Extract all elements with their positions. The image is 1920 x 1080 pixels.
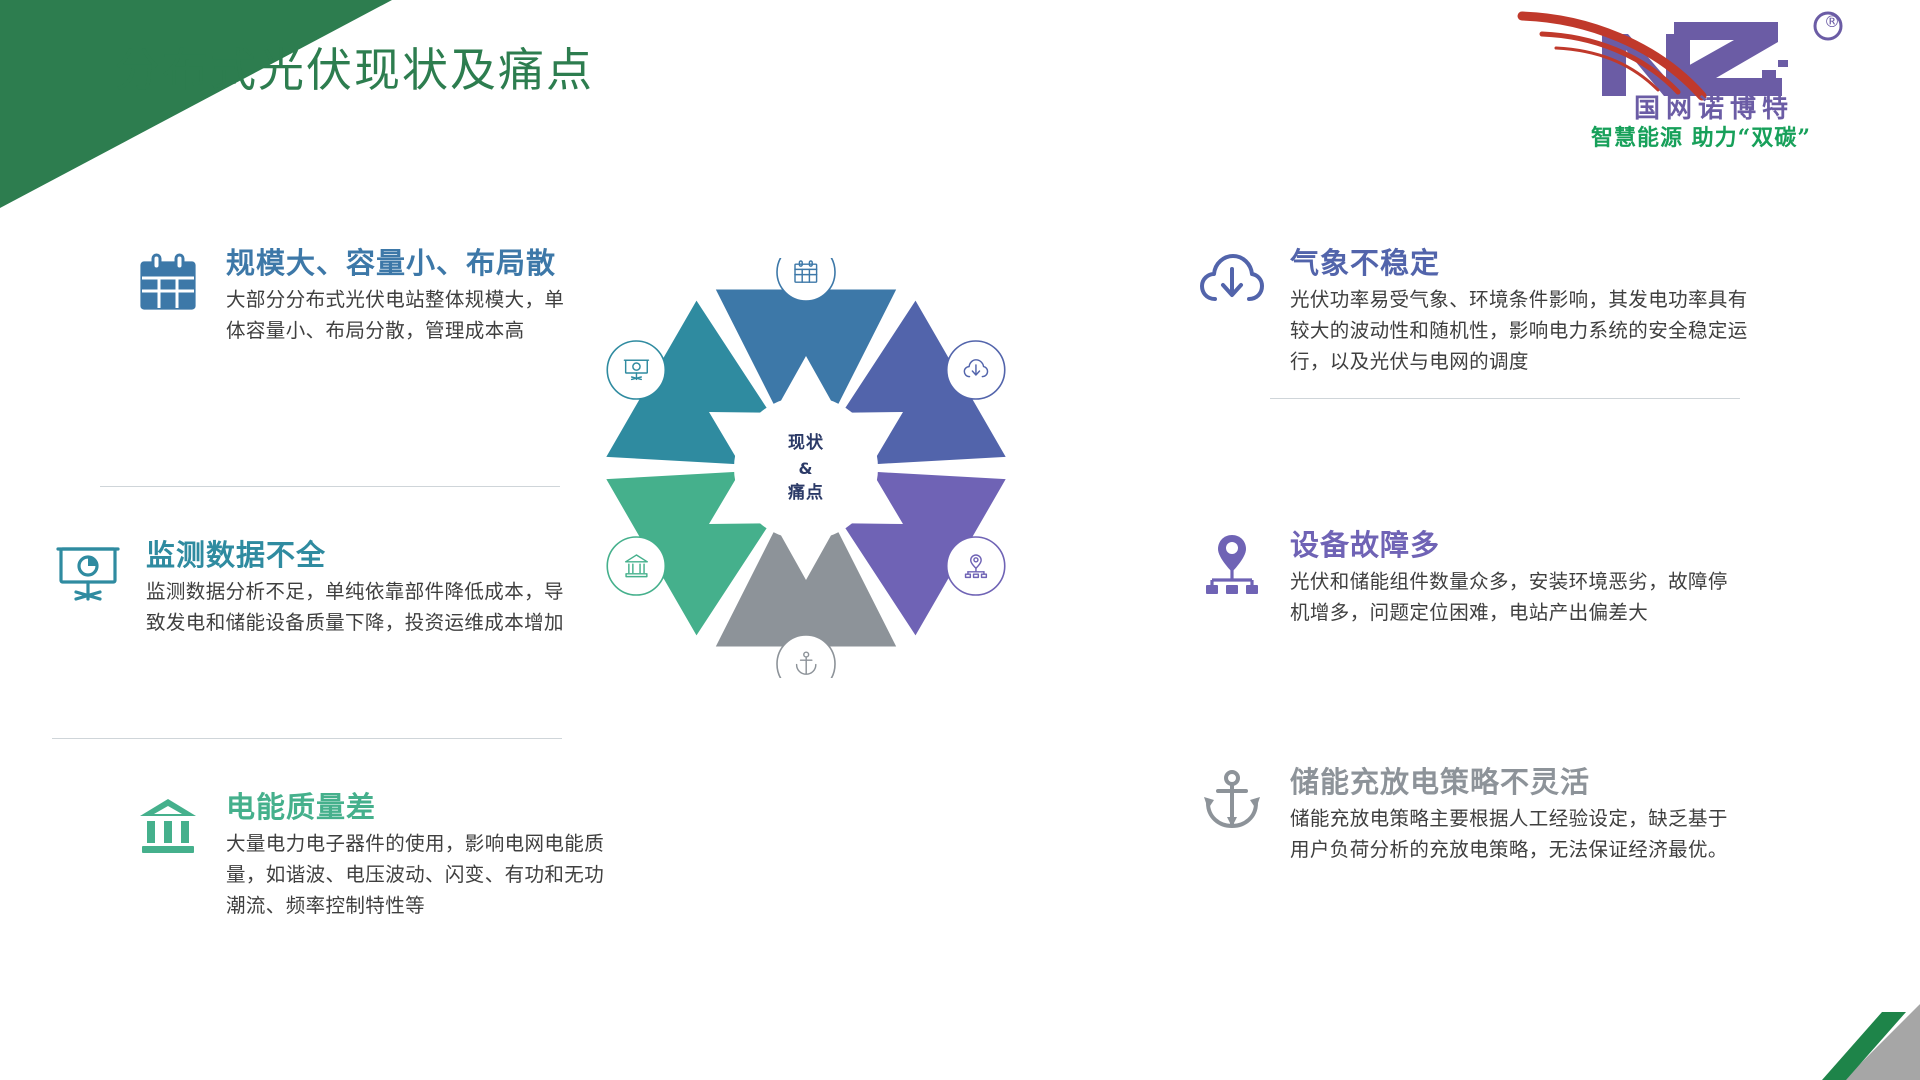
divider-left-1 xyxy=(100,486,560,487)
logo-mark: ® 国网诺博特 xyxy=(1506,4,1896,116)
info-block-equipment-faults: 设备故障多 光伏和储能组件数量众多，安装环境恶劣，故障停机增多，问题定位困难，电… xyxy=(1196,528,1736,628)
block-heading: 设备故障多 xyxy=(1290,528,1736,562)
divider-left-2 xyxy=(52,738,562,739)
block-body: 大量电力电子器件的使用，影响电网电能质量，如谐波、电压波动、闪变、有功和无功潮流… xyxy=(226,828,612,921)
network-pin-icon xyxy=(1196,528,1268,600)
block-body: 储能充放电策略主要根据人工经验设定，缺乏基于用户负荷分析的充放电策略，无法保证经… xyxy=(1290,803,1736,865)
icon-badge-bank-icon[interactable] xyxy=(607,537,665,595)
hexagon-diagram: 现状 & 痛点 xyxy=(596,258,1016,678)
block-heading: 监测数据不全 xyxy=(146,538,582,572)
logo-tagline: 智慧能源 助力“双碳” xyxy=(1506,120,1896,152)
block-body: 光伏功率易受气象、环境条件影响，其发电功率具有较大的波动性和随机性，影响电力系统… xyxy=(1290,284,1756,377)
info-block-storage-strategy: 储能充放电策略不灵活 储能充放电策略主要根据人工经验设定，缺乏基于用户负荷分析的… xyxy=(1196,765,1736,865)
info-block-weather: 气象不稳定 光伏功率易受气象、环境条件影响，其发电功率具有较大的波动性和随机性，… xyxy=(1196,246,1756,377)
hexagon-svg xyxy=(596,258,1016,678)
block-heading: 规模大、容量小、布局散 xyxy=(226,246,572,280)
cloud-download-icon xyxy=(1196,246,1268,318)
block-body: 大部分分布式光伏电站整体规模大，单体容量小、布局分散，管理成本高 xyxy=(226,284,572,346)
block-heading: 气象不稳定 xyxy=(1290,246,1756,280)
info-block-scale: 规模大、容量小、布局散 大部分分布式光伏电站整体规模大，单体容量小、布局分散，管… xyxy=(132,246,572,346)
anchor-icon xyxy=(1196,765,1268,837)
divider-right-1 xyxy=(1270,398,1740,399)
block-heading: 储能充放电策略不灵活 xyxy=(1290,765,1736,799)
block-body: 监测数据分析不足，单纯依靠部件降低成本，导致发电和储能设备质量下降，投资运维成本… xyxy=(146,576,582,638)
top-left-corner-accent xyxy=(0,0,392,208)
info-block-power-quality: 电能质量差 大量电力电子器件的使用，影响电网电能质量，如谐波、电压波动、闪变、有… xyxy=(132,790,612,921)
bank-icon xyxy=(132,790,204,862)
bottom-right-corner-accent xyxy=(1730,970,1920,1080)
icon-badge-network-pin-icon[interactable] xyxy=(947,537,1005,595)
presentation-icon xyxy=(52,538,124,610)
company-logo: ® 国网诺博特 智慧能源 助力“双碳” xyxy=(1506,4,1896,154)
slide-canvas: 分布式光伏现状及痛点 ® 国网诺博特 xyxy=(0,0,1920,1080)
calendar-icon xyxy=(132,246,204,318)
info-block-monitoring: 监测数据不全 监测数据分析不足，单纯依靠部件降低成本，导致发电和储能设备质量下降… xyxy=(52,538,582,638)
page-title: 分布式光伏现状及痛点 xyxy=(114,40,594,100)
registered-trademark-icon: ® xyxy=(1824,12,1840,31)
block-heading: 电能质量差 xyxy=(226,790,612,824)
center-disc xyxy=(734,396,878,540)
block-body: 光伏和储能组件数量众多，安装环境恶劣，故障停机增多，问题定位困难，电站产出偏差大 xyxy=(1290,566,1736,628)
